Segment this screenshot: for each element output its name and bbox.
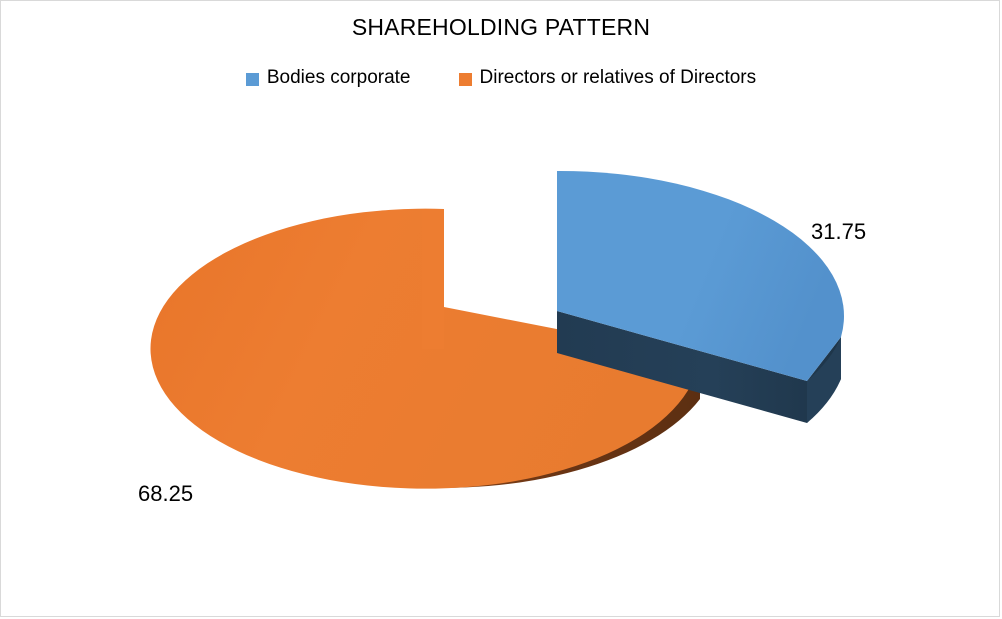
pie-chart-plot: 31.75 68.25 — [1, 1, 1000, 617]
data-label-bodies-corporate: 31.75 — [811, 219, 866, 244]
chart-container: SHAREHOLDING PATTERN Bodies corporate Di… — [0, 0, 1000, 617]
data-label-directors-or-relatives: 68.25 — [138, 481, 193, 506]
